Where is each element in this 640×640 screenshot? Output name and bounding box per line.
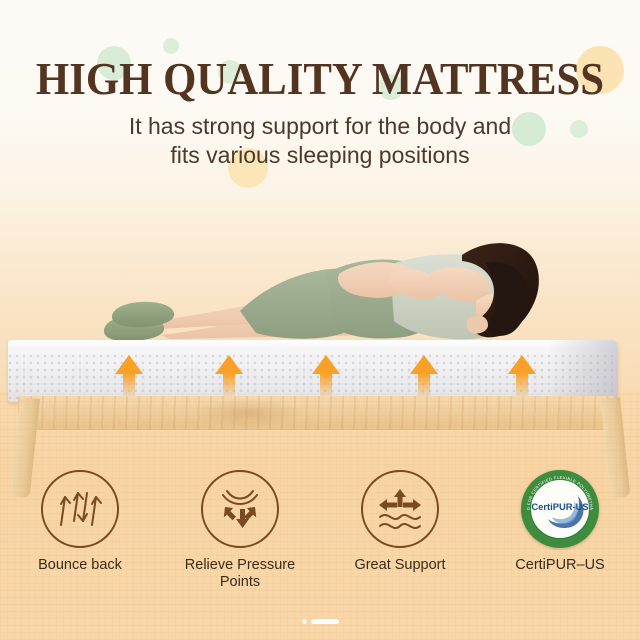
arrow-head (215, 355, 243, 374)
page-title: HIGH QUALITY MATTRESS (22, 55, 617, 103)
arrow-head (410, 355, 438, 374)
feature-label: Relieve Pressure Points (185, 557, 295, 591)
bounce-back-arrows-icon (41, 470, 119, 548)
woman-lying-on-side-image (90, 243, 540, 345)
arrow-head (508, 355, 536, 374)
wood-grain-knot (193, 398, 303, 428)
feature-great-support[interactable]: Great Support (320, 470, 480, 600)
support-arrow-4 (410, 355, 438, 401)
feature-list: Bounce back Relieve Pressure Points (0, 470, 640, 600)
product-infographic-slide: HIGH QUALITY MATTRESS It has strong supp… (0, 0, 640, 640)
feature-bounce-back[interactable]: Bounce back (0, 470, 160, 600)
feature-label: Bounce back (38, 557, 122, 574)
badge-center-text: CertiPUR-US (531, 501, 588, 512)
arrow-head (115, 355, 143, 374)
pagination-dot-active[interactable] (311, 619, 339, 624)
support-arrow-1 (115, 355, 143, 401)
subtitle-line-1: It has strong support for the body and (0, 112, 640, 141)
feature-label: CertiPUR–US (515, 557, 604, 574)
feature-certipur-us[interactable]: CERTIFIED FOR CERTIFIED FLEXIBLE POLYURE… (480, 470, 640, 600)
relieve-pressure-icon (201, 470, 279, 548)
badge-arc-bottom-text: WWW.CERTIPUR.US (541, 526, 579, 537)
mattress-top-edge (8, 340, 618, 351)
feature-relieve-pressure[interactable]: Relieve Pressure Points (160, 470, 320, 600)
pagination-dot[interactable] (302, 619, 307, 624)
subtitle-line-2: fits various sleeping positions (0, 141, 640, 170)
support-arrow-2 (215, 355, 243, 401)
support-arrow-3 (312, 355, 340, 401)
mattress-shadow (548, 340, 618, 402)
certipur-us-badge-icon: CERTIFIED FOR CERTIFIED FLEXIBLE POLYURE… (521, 470, 599, 548)
arrow-head (312, 355, 340, 374)
pagination-dots[interactable] (0, 619, 640, 624)
great-support-icon (361, 470, 439, 548)
feature-label: Great Support (354, 557, 445, 574)
support-arrow-5 (508, 355, 536, 401)
person-illustration (90, 243, 540, 345)
mint-circle-sub-left (163, 38, 179, 54)
bed-frame-rail (18, 396, 614, 430)
page-subtitle: It has strong support for the body and f… (0, 112, 640, 170)
